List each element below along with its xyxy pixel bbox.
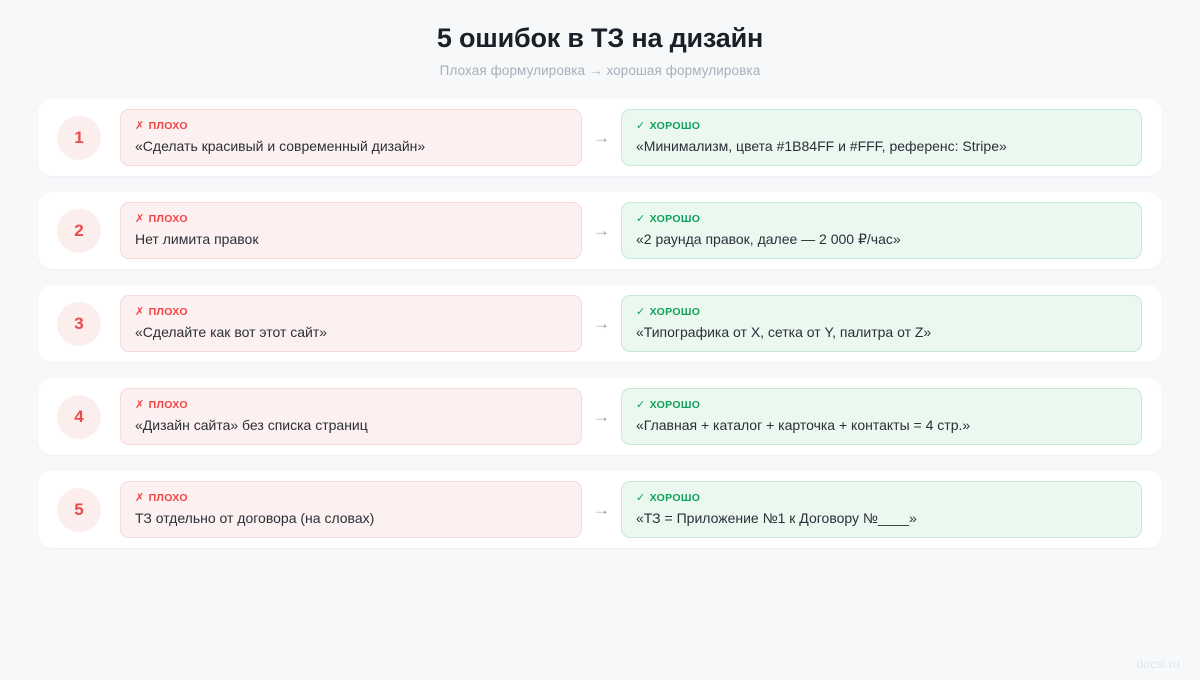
good-label-text: ХОРОШО	[650, 492, 701, 504]
arrow-right-icon: →	[582, 501, 621, 518]
cross-icon: ✗	[135, 493, 145, 504]
check-icon: ✓	[636, 400, 646, 411]
row-number-badge: 2	[57, 209, 101, 253]
row-number-badge: 5	[57, 488, 101, 532]
mistake-row: 2 ✗ ПЛОХО Нет лимита правок → ✓ ХОРОШО «…	[38, 192, 1162, 269]
bad-example-box: ✗ ПЛОХО ТЗ отдельно от договора (на слов…	[120, 481, 582, 538]
good-example-box: ✓ ХОРОШО «2 раунда правок, далее — 2 000…	[621, 202, 1142, 259]
good-label-text: ХОРОШО	[650, 399, 701, 411]
bad-label-text: ПЛОХО	[149, 492, 188, 504]
bad-label-text: ПЛОХО	[149, 213, 188, 225]
cross-icon: ✗	[135, 400, 145, 411]
bad-label: ✗ ПЛОХО	[135, 120, 567, 132]
good-label: ✓ ХОРОШО	[636, 399, 1127, 411]
bad-example-text: ТЗ отдельно от договора (на словах)	[135, 510, 567, 528]
bad-label: ✗ ПЛОХО	[135, 213, 567, 225]
arrow-right-icon: →	[582, 222, 621, 239]
check-icon: ✓	[636, 214, 646, 225]
bad-example-box: ✗ ПЛОХО «Дизайн сайта» без списка страни…	[120, 388, 582, 445]
arrow-right-icon: →	[582, 129, 621, 146]
page-subtitle: Плохая формулировка → хорошая формулиров…	[0, 63, 1200, 78]
mistake-row: 5 ✗ ПЛОХО ТЗ отдельно от договора (на сл…	[38, 471, 1162, 548]
good-example-text: «Типографика от X, сетка от Y, палитра о…	[636, 324, 1127, 342]
good-label: ✓ ХОРОШО	[636, 492, 1127, 504]
mistake-row: 1 ✗ ПЛОХО «Сделать красивый и современны…	[38, 99, 1162, 176]
bad-example-box: ✗ ПЛОХО Нет лимита правок	[120, 202, 582, 259]
bad-example-text: Нет лимита правок	[135, 231, 567, 249]
cross-icon: ✗	[135, 214, 145, 225]
bad-label: ✗ ПЛОХО	[135, 399, 567, 411]
mistake-row: 3 ✗ ПЛОХО «Сделайте как вот этот сайт» →…	[38, 285, 1162, 362]
good-label-text: ХОРОШО	[650, 213, 701, 225]
good-example-box: ✓ ХОРОШО «ТЗ = Приложение №1 к Договору …	[621, 481, 1142, 538]
good-example-text: «Главная + каталог + карточка + контакты…	[636, 417, 1127, 435]
bad-example-text: «Сделайте как вот этот сайт»	[135, 324, 567, 342]
cross-icon: ✗	[135, 307, 145, 318]
bad-example-text: «Сделать красивый и современный дизайн»	[135, 138, 567, 156]
check-icon: ✓	[636, 307, 646, 318]
good-label: ✓ ХОРОШО	[636, 213, 1127, 225]
page-title: 5 ошибок в ТЗ на дизайн	[0, 22, 1200, 54]
row-number-badge: 4	[57, 395, 101, 439]
good-example-text: «2 раунда правок, далее — 2 000 ₽/час»	[636, 231, 1127, 249]
arrow-right-icon: →	[582, 408, 621, 425]
check-icon: ✓	[636, 121, 646, 132]
bad-label: ✗ ПЛОХО	[135, 306, 567, 318]
good-label-text: ХОРОШО	[650, 306, 701, 318]
page-header: 5 ошибок в ТЗ на дизайн Плохая формулиро…	[0, 0, 1200, 78]
bad-label-text: ПЛОХО	[149, 306, 188, 318]
mistake-rows-list: 1 ✗ ПЛОХО «Сделать красивый и современны…	[0, 99, 1200, 548]
good-example-text: «ТЗ = Приложение №1 к Договору №____»	[636, 510, 1127, 528]
good-label: ✓ ХОРОШО	[636, 120, 1127, 132]
bad-example-box: ✗ ПЛОХО «Сделайте как вот этот сайт»	[120, 295, 582, 352]
mistake-row: 4 ✗ ПЛОХО «Дизайн сайта» без списка стра…	[38, 378, 1162, 455]
good-label: ✓ ХОРОШО	[636, 306, 1127, 318]
arrow-right-icon: →	[582, 315, 621, 332]
good-label-text: ХОРОШО	[650, 120, 701, 132]
good-example-text: «Минимализм, цвета #1B84FF и #FFF, рефер…	[636, 138, 1127, 156]
row-number-badge: 3	[57, 302, 101, 346]
bad-label-text: ПЛОХО	[149, 120, 188, 132]
row-number-badge: 1	[57, 116, 101, 160]
watermark: docsi.ru	[1136, 657, 1180, 671]
cross-icon: ✗	[135, 121, 145, 132]
good-example-box: ✓ ХОРОШО «Типографика от X, сетка от Y, …	[621, 295, 1142, 352]
check-icon: ✓	[636, 493, 646, 504]
good-example-box: ✓ ХОРОШО «Главная + каталог + карточка +…	[621, 388, 1142, 445]
good-example-box: ✓ ХОРОШО «Минимализм, цвета #1B84FF и #F…	[621, 109, 1142, 166]
bad-example-text: «Дизайн сайта» без списка страниц	[135, 417, 567, 435]
bad-example-box: ✗ ПЛОХО «Сделать красивый и современный …	[120, 109, 582, 166]
bad-label-text: ПЛОХО	[149, 399, 188, 411]
bad-label: ✗ ПЛОХО	[135, 492, 567, 504]
